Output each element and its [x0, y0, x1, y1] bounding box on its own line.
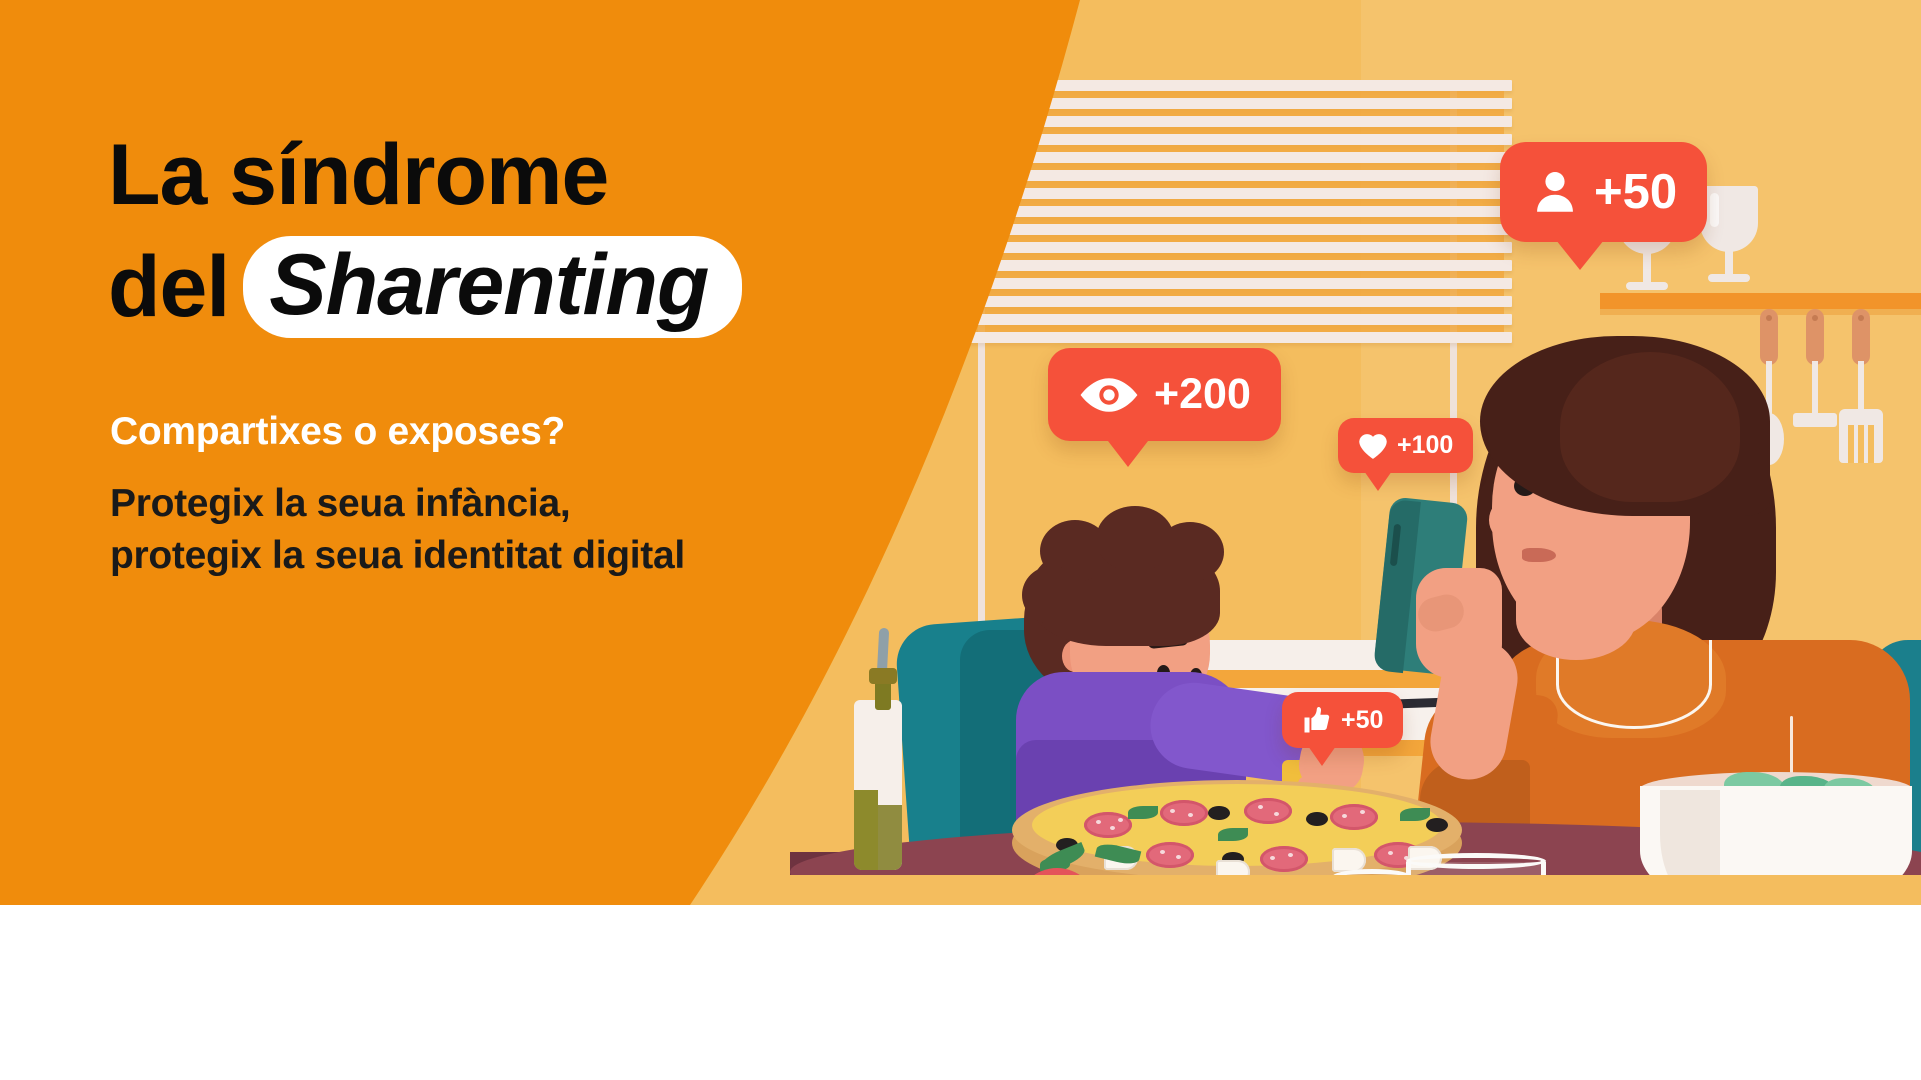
pizza-salami — [1146, 842, 1194, 868]
page-title: La síndrome del Sharenting — [108, 132, 742, 338]
window-blinds — [968, 80, 1512, 345]
subtitle-statement-line-1: Protegix la seua infància, — [110, 478, 685, 530]
pizza-salami — [1330, 804, 1378, 830]
badge-tail — [1108, 441, 1148, 467]
badge-followers-count: +50 — [1594, 164, 1677, 220]
subtitle-statement-line-2: protegix la seua identitat digital — [110, 530, 685, 582]
heart-icon — [1358, 432, 1388, 460]
pizza-salami — [1084, 812, 1132, 838]
badge-likes-count: +100 — [1397, 431, 1453, 460]
pizza-basil — [1218, 828, 1248, 841]
badge-thumbs: +50 — [1282, 692, 1403, 748]
poster-canvas: La síndrome del Sharenting Compartixes o… — [0, 0, 1921, 1080]
badge-tail — [1308, 746, 1336, 766]
child-hair-curl — [1156, 522, 1224, 582]
pizza-olive — [1208, 806, 1230, 820]
pizza-salami — [1244, 798, 1292, 824]
mother-nose — [1489, 500, 1523, 540]
pizza-olive — [1306, 812, 1328, 826]
thumbs-up-icon — [1302, 705, 1332, 735]
subtitle-statement: Protegix la seua infància, protegix la s… — [110, 478, 685, 582]
pizza-basil — [1400, 808, 1430, 821]
badge-views: +200 — [1048, 348, 1281, 441]
badge-views-count: +200 — [1154, 370, 1251, 419]
headline-line-2: del Sharenting — [108, 236, 742, 338]
pizza-olive — [1426, 818, 1448, 832]
mother-hair-highlight — [1560, 352, 1740, 502]
wine-glass — [1700, 186, 1758, 286]
pizza-salami — [1260, 846, 1308, 872]
mother-lips — [1522, 548, 1556, 562]
oil-bottle-liquid-shade — [854, 790, 878, 870]
badge-tail — [1556, 240, 1604, 270]
mother-chin — [1516, 580, 1636, 660]
oil-bottle-cap — [869, 668, 897, 684]
headline-del: del — [108, 244, 229, 330]
pizza-basil — [1128, 806, 1158, 819]
eye-icon — [1078, 375, 1140, 415]
badge-likes: +100 — [1338, 418, 1473, 473]
person-icon — [1530, 166, 1580, 218]
footer: GENERALITAT VALENCIANA ACÍ. ARA. CSIRT-C… — [0, 905, 1921, 1080]
pizza-salami — [1160, 800, 1208, 826]
child-hair-curl — [1022, 566, 1082, 624]
badge-thumbs-count: +50 — [1341, 706, 1383, 735]
headline-sharenting-pill: Sharenting — [243, 236, 742, 338]
headline-line-1: La síndrome — [108, 132, 742, 218]
subtitle-question: Compartixes o exposes? — [110, 410, 565, 454]
badge-tail — [1364, 471, 1392, 491]
badge-followers: +50 — [1500, 142, 1707, 242]
